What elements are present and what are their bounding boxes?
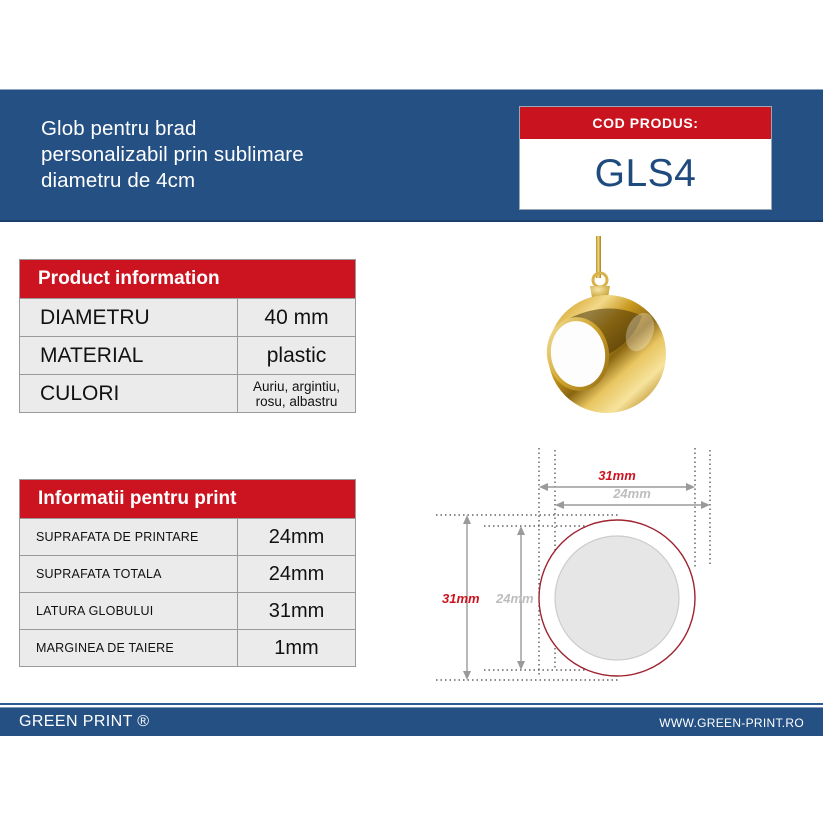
page-title: Glob pentru brad personalizabil prin sub… xyxy=(41,116,471,194)
product-code-value: GLS4 xyxy=(520,139,771,209)
arrow-top-left-inner xyxy=(517,526,525,535)
table-row: DIAMETRU 40 mm xyxy=(20,298,355,336)
product-spec-sheet: Glob pentru brad personalizabil prin sub… xyxy=(0,0,823,823)
product-code-label: COD PRODUS: xyxy=(520,107,771,139)
product-row-label-culori: CULORI xyxy=(20,375,238,412)
print-row-label-suprafata-totala: SUPRAFATA TOTALA xyxy=(20,556,238,592)
footer-website[interactable]: WWW.GREEN-PRINT.RO xyxy=(659,716,804,730)
print-row-value-suprafata-de-printare: 24mm xyxy=(238,519,355,555)
label-top-inner-24mm: 24mm xyxy=(612,486,651,501)
print-row-label-suprafata-de-printare: SUPRAFATA DE PRINTARE xyxy=(20,519,238,555)
product-photo xyxy=(512,232,702,427)
table-row: CULORI Auriu, argintiu, rosu, albastru xyxy=(20,374,355,412)
product-row-label-material: MATERIAL xyxy=(20,337,238,374)
print-information-heading: Informatii pentru print xyxy=(20,480,355,518)
arrow-right-top-inner xyxy=(701,501,710,509)
print-row-label-marginea-de-taiere: MARGINEA DE TAIERE xyxy=(20,630,238,666)
product-row-value-diametru: 40 mm xyxy=(238,299,355,336)
print-row-value-suprafata-totala: 24mm xyxy=(238,556,355,592)
arrow-left-top-outer xyxy=(539,483,548,491)
product-code-box: COD PRODUS: GLS4 xyxy=(519,106,772,210)
label-left-inner-24mm: 24mm xyxy=(495,591,534,606)
print-information-table: Informatii pentru print SUPRAFATA DE PRI… xyxy=(19,479,356,667)
arrow-top-left-outer xyxy=(463,515,471,524)
arrow-bottom-left-inner xyxy=(517,661,525,670)
page-title-line-2: personalizabil prin sublimare xyxy=(41,142,471,168)
arrow-left-top-inner xyxy=(555,501,564,509)
product-row-value-culori: Auriu, argintiu, rosu, albastru xyxy=(238,375,355,412)
inner-circle-24mm xyxy=(555,536,679,660)
table-row: SUPRAFATA DE PRINTARE 24mm xyxy=(20,518,355,555)
product-row-value-culori-line-1: Auriu, argintiu, xyxy=(253,379,340,394)
label-top-outer-31mm: 31mm xyxy=(598,468,636,483)
product-information-table: Product information DIAMETRU 40 mm MATER… xyxy=(19,259,356,413)
print-row-label-latura-globului: LATURA GLOBULUI xyxy=(20,593,238,629)
product-information-heading: Product information xyxy=(20,260,355,298)
table-row: MARGINEA DE TAIERE 1mm xyxy=(20,629,355,666)
page-title-line-1: Glob pentru brad xyxy=(41,116,471,142)
page-title-line-3: diametru de 4cm xyxy=(41,168,471,194)
print-row-value-latura-globului: 31mm xyxy=(238,593,355,629)
footer-divider xyxy=(0,703,823,705)
product-row-value-material: plastic xyxy=(238,337,355,374)
footer-brand: GREEN PRINT ® xyxy=(19,713,150,731)
table-row: MATERIAL plastic xyxy=(20,336,355,374)
product-row-label-diametru: DIAMETRU xyxy=(20,299,238,336)
dimension-diagram: 31mm 24mm 31mm 24mm xyxy=(420,448,815,698)
arrow-right-top-outer xyxy=(686,483,695,491)
label-left-outer-31mm: 31mm xyxy=(442,591,480,606)
table-row: LATURA GLOBULUI 31mm xyxy=(20,592,355,629)
arrow-bottom-left-outer xyxy=(463,671,471,680)
footer-band: GREEN PRINT ® WWW.GREEN-PRINT.RO xyxy=(0,707,823,736)
print-row-value-marginea-de-taiere: 1mm xyxy=(238,630,355,666)
table-row: SUPRAFATA TOTALA 24mm xyxy=(20,555,355,592)
product-row-value-culori-line-2: rosu, albastru xyxy=(256,394,338,409)
